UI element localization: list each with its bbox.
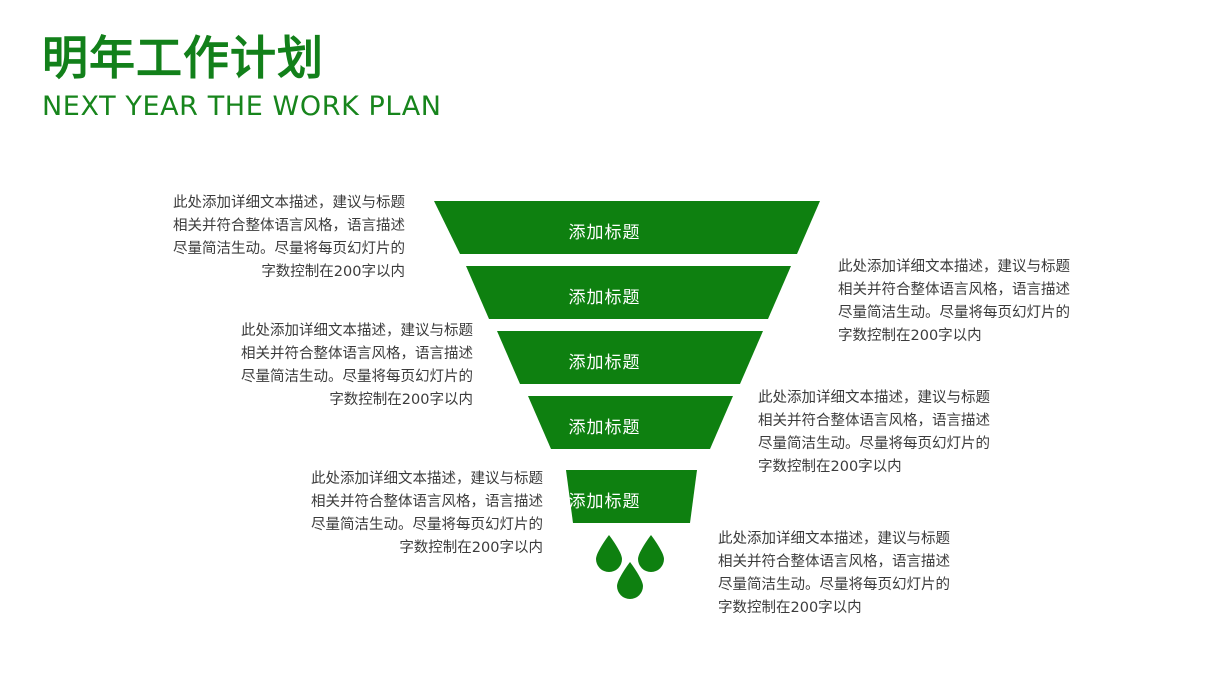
droplet-icon-left: [596, 535, 622, 572]
slide-header: 明年工作计划 NEXT YEAR THE WORK PLAN: [42, 34, 742, 122]
description-right-3: 此处添加详细文本描述，建议与标题 相关并符合整体语言风格，语言描述 尽量简洁生动…: [718, 528, 1008, 620]
description-left-1: 此处添加详细文本描述，建议与标题 相关并符合整体语言风格，语言描述 尽量简洁生动…: [100, 192, 405, 284]
funnel-segment-5-label: 添加标题: [0, 487, 1209, 512]
funnel-segment-3[interactable]: [497, 331, 763, 384]
droplet-icon-center: [617, 562, 643, 599]
page-subtitle-english: NEXT YEAR THE WORK PLAN: [42, 92, 742, 122]
description-left-2: 此处添加详细文本描述，建议与标题 相关并符合整体语言风格，语言描述 尽量简洁生动…: [168, 320, 473, 412]
funnel-segment-4[interactable]: [528, 396, 733, 449]
slide-canvas: 明年工作计划 NEXT YEAR THE WORK PLAN 添加标题 添加标题…: [0, 0, 1209, 680]
page-title-chinese: 明年工作计划: [42, 34, 742, 82]
description-right-2: 此处添加详细文本描述，建议与标题 相关并符合整体语言风格，语言描述 尽量简洁生动…: [758, 387, 1048, 479]
description-right-1: 此处添加详细文本描述，建议与标题 相关并符合整体语言风格，语言描述 尽量简洁生动…: [838, 256, 1128, 348]
funnel-segment-5[interactable]: [566, 470, 697, 523]
funnel-segment-2[interactable]: [466, 266, 791, 319]
droplet-group: [596, 535, 664, 599]
funnel-segment-1[interactable]: [434, 201, 820, 254]
droplet-icon-right: [638, 535, 664, 572]
description-left-3: 此处添加详细文本描述，建议与标题 相关并符合整体语言风格，语言描述 尽量简洁生动…: [238, 468, 543, 560]
